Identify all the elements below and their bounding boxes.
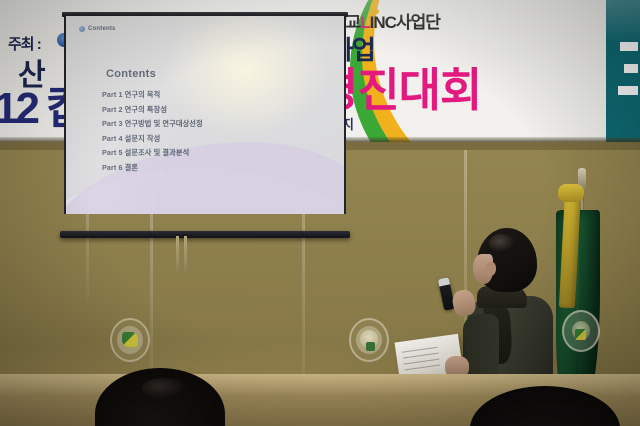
list-item: Part 6 결론 [102, 163, 203, 173]
screen-bottom-bar [60, 231, 350, 238]
crest-emblem-shape [122, 332, 138, 347]
photo-scene: 주최 : 교육 산 12 캅 입 학교LINC사업단 사업 경진대회 운지 [0, 0, 640, 426]
flag-tassel-knot [558, 184, 584, 202]
flag-crest-badge [575, 329, 586, 340]
crest-mascot-badge [366, 342, 375, 351]
screen-stand-leg [176, 236, 179, 272]
list-item: Part 1 연구의 목적 [102, 90, 203, 100]
banner-text-fragment [624, 64, 638, 73]
slide-header: Contents [79, 26, 116, 32]
presenter-ear [485, 262, 496, 276]
list-item: Part 5 설문조사 및 결과분석 [102, 148, 203, 158]
linc-dot-icon [374, 9, 379, 14]
audience-hair-highlight [142, 378, 186, 398]
university-crest-left-icon [110, 318, 150, 362]
slide-header-label: Contents [88, 26, 116, 32]
list-item: Part 2 연구의 특장성 [102, 105, 203, 115]
banner-linc-letters-nc: NC [373, 13, 396, 32]
screen-surface: Contents Contents Part 1 연구의 목적 Part 2 연… [64, 16, 346, 214]
banner-text-fragment [620, 42, 638, 51]
list-item: Part 4 설문지 작성 [102, 134, 203, 144]
screen-stand-leg [184, 236, 187, 272]
slide-title: Contents [106, 68, 156, 80]
university-crest-right-icon [349, 318, 389, 362]
list-item: Part 3 연구방법 및 연구대상선정 [102, 119, 203, 129]
banner-text-fragment [618, 86, 638, 95]
projection-screen: Contents Contents Part 1 연구의 목적 Part 2 연… [64, 12, 346, 238]
slide-contents-list: Part 1 연구의 목적 Part 2 연구의 특장성 Part 3 연구방법… [102, 90, 203, 173]
presentation-slide: Contents Contents Part 1 연구의 목적 Part 2 연… [66, 16, 344, 214]
hair-highlight [489, 234, 515, 252]
banner-linc-suffix: 사업단 [396, 13, 440, 32]
bullet-icon [79, 26, 85, 32]
